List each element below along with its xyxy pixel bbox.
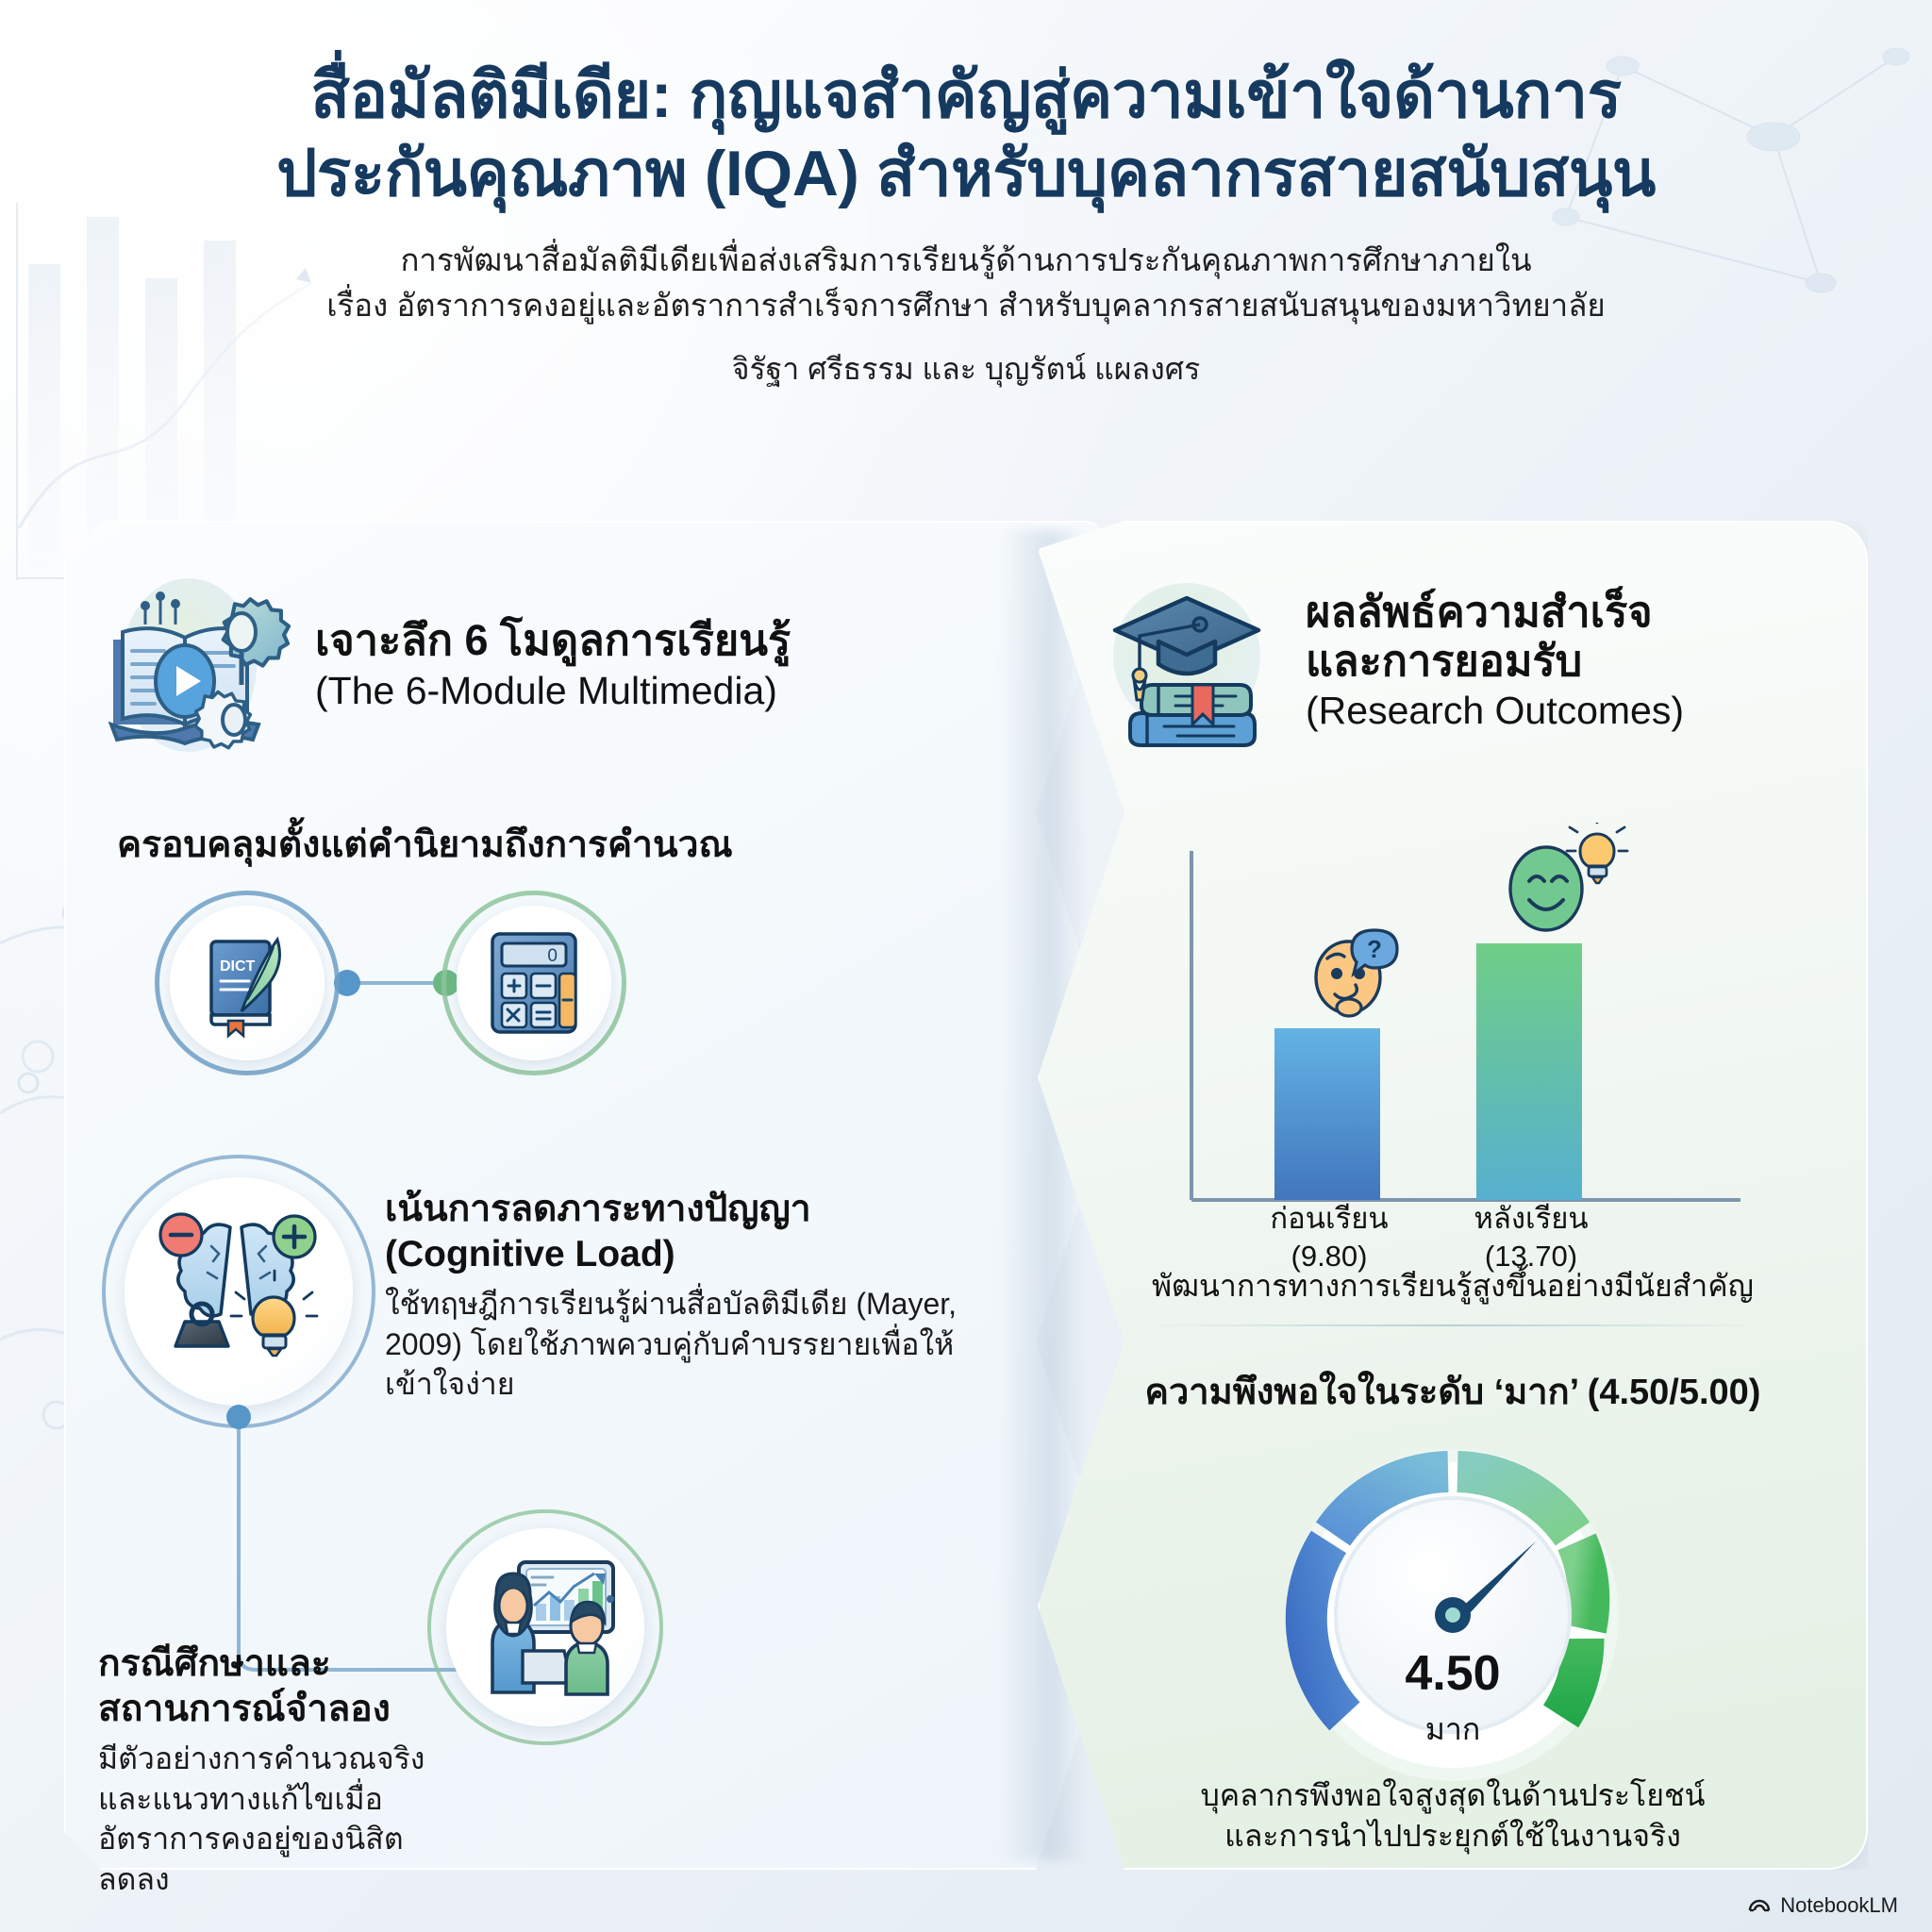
- case-study-body: มีตัวอย่างการคำนวณจริง และแนวทางแก้ไขเมื…: [98, 1739, 438, 1899]
- right-panel-header: ผลลัพธ์ความสำเร็จ และการยอมรับ (Research…: [1092, 564, 1847, 758]
- page-title: สื่อมัลติมีเดีย: กุญแจสำคัญสู่ความเข้าใจ…: [0, 57, 1932, 213]
- chart-caption: พัฒนาการทางการเรียนรู้สูงขึ้นอย่างมีนัยส…: [1066, 1266, 1840, 1307]
- cognitive-body: ใช้ทฤษฎีการเรียนรู้ผ่านสื่อบัลติมีเดีย (…: [385, 1284, 989, 1405]
- bottom-caption-line-1: บุคลากรพึงพอใจสูงสุดในด้านประโยชน์: [1066, 1775, 1840, 1816]
- cognitive-load-node: เน้นการลดภาระทางปัญญา (Cognitive Load) ใ…: [385, 1187, 989, 1405]
- panels-container: เจาะลึก 6 โมดูลการเรียนรู้ (The 6-Module…: [0, 521, 1932, 1870]
- svg-text:DICT: DICT: [220, 958, 256, 974]
- bar-category-before: ก่อนเรียน: [1235, 1200, 1424, 1238]
- right-panel-heading-text: ผลลัพธ์ความสำเร็จ และการยอมรับ (Research…: [1306, 588, 1684, 735]
- bar-label-before: ก่อนเรียน (9.80): [1235, 1200, 1424, 1276]
- left-panel-content: เจาะลึก 6 โมดูลการเรียนรู้ (The 6-Module…: [64, 521, 1064, 1870]
- book-gears-icon: [102, 566, 291, 764]
- page-subtitle-line-1: การพัฒนาสื่อมัลติมีเดียเพื่อส่งเสริมการเ…: [0, 238, 1932, 283]
- svg-text:?: ?: [1367, 935, 1382, 963]
- page-subtitle-line-2: เรื่อง อัตราการคงอยู่และอัตราการสำเร็จกา…: [0, 283, 1932, 328]
- page-subtitle: การพัฒนาสื่อมัลติมีเดียเพื่อส่งเสริมการเ…: [0, 238, 1932, 328]
- cognitive-load-icon: [125, 1177, 353, 1406]
- bar-label-after: หลังเรียน (13.70): [1437, 1200, 1625, 1276]
- cognitive-title-en: (Cognitive Load): [385, 1232, 989, 1277]
- graduation-books-icon: [1092, 564, 1281, 758]
- svg-text:0: 0: [547, 946, 558, 966]
- left-panel-heading-en: (The 6-Module Multimedia): [315, 668, 791, 714]
- case-study-title-line-2: สถานการณ์จำลอง: [98, 1687, 438, 1732]
- gauge-value: 4.50: [1274, 1649, 1632, 1698]
- notebooklm-logo-icon: [1747, 1892, 1772, 1919]
- case-study-title-line-1: กรณีศึกษาและ: [98, 1641, 438, 1687]
- page-title-line-2: ประกันคุณภาพ (IQA) สำหรับบุคลากรสายสนับส…: [0, 135, 1932, 213]
- pretest-posttest-bar-chart: ?: [1137, 823, 1797, 1266]
- bar-category-after: หลังเรียน: [1437, 1200, 1625, 1238]
- right-panel-heading-line-1: ผลลัพธ์ความสำเร็จ: [1306, 588, 1684, 637]
- cognitive-title-th: เน้นการลดภาระทางปัญญา: [385, 1187, 989, 1232]
- authors-line: จิรัฐา ศรีธรรม และ บุญรัตน์ แผลงศร: [0, 345, 1932, 393]
- left-panel-header: เจาะลึก 6 โมดูลการเรียนรู้ (The 6-Module…: [102, 566, 998, 764]
- right-panel-bottom-caption: บุคลากรพึงพอใจสูงสุดในด้านประโยชน์ และกา…: [1066, 1775, 1840, 1857]
- dictionary-icon: DICT: [170, 906, 325, 1060]
- case-study-presentation-icon: [446, 1528, 644, 1726]
- left-panel-heading-text: เจาะลึก 6 โมดูลการเรียนรู้ (The 6-Module…: [315, 616, 791, 713]
- notebooklm-label: NotebookLM: [1780, 1893, 1898, 1918]
- notebooklm-watermark: NotebookLM: [1747, 1892, 1898, 1919]
- satisfaction-gauge: 4.50 มาก: [1274, 1436, 1632, 1794]
- right-panel-heading-line-2: และการยอมรับ: [1306, 637, 1684, 686]
- section-divider: [1141, 1324, 1764, 1326]
- case-study-node: กรณีศึกษาและ สถานการณ์จำลอง มีตัวอย่างกา…: [98, 1641, 438, 1899]
- right-panel-heading-en: (Research Outcomes): [1306, 688, 1684, 734]
- page-title-line-1: สื่อมัลติมีเดีย: กุญแจสำคัญสู่ความเข้าใจ…: [0, 57, 1932, 135]
- right-panel-content: ผลลัพธ์ความสำเร็จ และการยอมรับ (Research…: [1038, 521, 1868, 1870]
- calculator-icon: 0: [457, 906, 611, 1060]
- gauge-label: มาก: [1274, 1706, 1632, 1754]
- left-panel-heading-th: เจาะลึก 6 โมดูลการเรียนรู้: [315, 616, 791, 665]
- bottom-caption-line-2: และการนำไปประยุกต์ใช้ในงานจริง: [1066, 1816, 1840, 1857]
- satisfaction-title: ความพึงพอใจในระดับ ‘มาก’ (4.50/5.00): [1066, 1362, 1840, 1420]
- page-header: สื่อมัลติมีเดีย: กุญแจสำคัญสู่ความเข้าใจ…: [0, 57, 1932, 393]
